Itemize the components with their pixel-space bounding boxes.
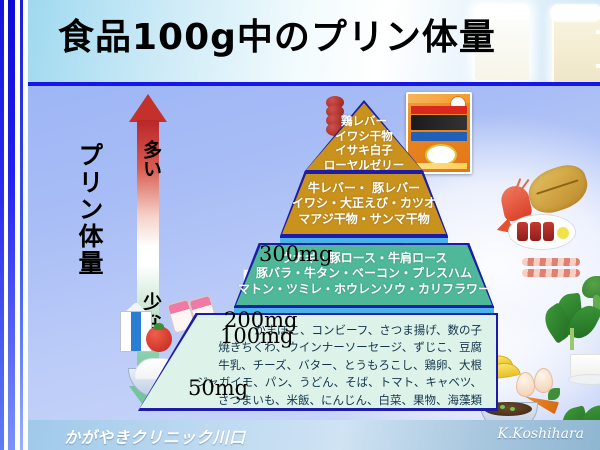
fish-spine (536, 179, 578, 194)
left-border-stripe-2 (5, 0, 7, 450)
carrot-leaf (548, 388, 560, 400)
sashimi-slice (530, 222, 541, 241)
left-border-stripe-3 (8, 0, 15, 450)
arrow-label-high: 多い (136, 140, 160, 178)
pyramid-tier-high[interactable]: 牛レバー・ 豚レバー イワシ・大正えび・カツオ マアジ干物・サンマ干物 (280, 172, 448, 236)
pyramid-tier-very-high[interactable]: 鶏レバー イワシ干物 イサキ白子 ローヤルゼリー (304, 100, 424, 172)
tofu-icon (568, 354, 600, 386)
bacon-strip (522, 258, 580, 266)
tier-2-line: 牛レバー・ 豚レバー (280, 181, 448, 196)
slide-header: 食品100g中のプリン体量 (28, 0, 600, 82)
axis-label-purine-amount: プリン体量 (60, 142, 102, 277)
arrow-head-up-icon (129, 94, 167, 122)
tuna-sashimi-icon (508, 214, 576, 250)
soba-garnish (500, 405, 505, 409)
slide-root: 食品100g中のプリン体量 プリン体量 多い 少ない (0, 0, 600, 450)
beer-mug-handle (596, 30, 600, 68)
tier-1-line: イワシ干物 (304, 129, 424, 144)
lemon-garnish (557, 227, 569, 239)
tier-1-text: 鶏レバー イワシ干物 イサキ白子 ローヤルゼリー (304, 114, 424, 173)
leafy-green-icon (558, 404, 600, 420)
tier-3-line: 豚バラ・牛タン・ベーコン・プレスハム (234, 266, 494, 281)
diagram-canvas: プリン体量 多い 少ない (28, 86, 600, 420)
tier-2-line: マアジ干物・サンマ干物 (280, 212, 448, 227)
spinach-icon (546, 292, 600, 352)
page-title: 食品100g中のプリン体量 (58, 8, 496, 60)
tier-2-text: 牛レバー・ 豚レバー イワシ・大正えび・カツオ マアジ干物・サンマ干物 (280, 181, 448, 227)
tier-1-line: ローヤルゼリー (304, 158, 424, 173)
threshold-label-300mg: 300mg (259, 242, 332, 266)
threshold-label-50mg: 50mg (188, 376, 248, 400)
spinach-stem (570, 328, 574, 350)
bacon-icon (522, 258, 580, 280)
soba-garnish (510, 407, 515, 411)
beer-mug-foam (550, 4, 600, 22)
author-name: K.Koshihara (497, 426, 584, 442)
tier-3-line: マトン・ツミレ・ホウレンソウ・カリフラワー (234, 282, 494, 297)
tofu-plate (568, 374, 600, 385)
sashimi-slice (517, 222, 528, 241)
slide-footer: かがやきクリニック川口 K.Koshihara (28, 420, 600, 450)
tier-1-line: イサキ白子 (304, 143, 424, 158)
clinic-name: かがやきクリニック川口 (64, 424, 246, 448)
threshold-label-100mg: 100mg (220, 324, 293, 348)
tier-1-line: 鶏レバー (304, 114, 424, 129)
bacon-strip (522, 269, 580, 277)
tier-2-line: イワシ・大正えび・カツオ (280, 196, 448, 211)
sashimi-slice (543, 222, 554, 241)
left-border-stripe-1 (0, 0, 4, 450)
tier-4-line: 牛乳、チーズ、バター、とうもろこし、鶏卵、大根 (176, 357, 482, 374)
